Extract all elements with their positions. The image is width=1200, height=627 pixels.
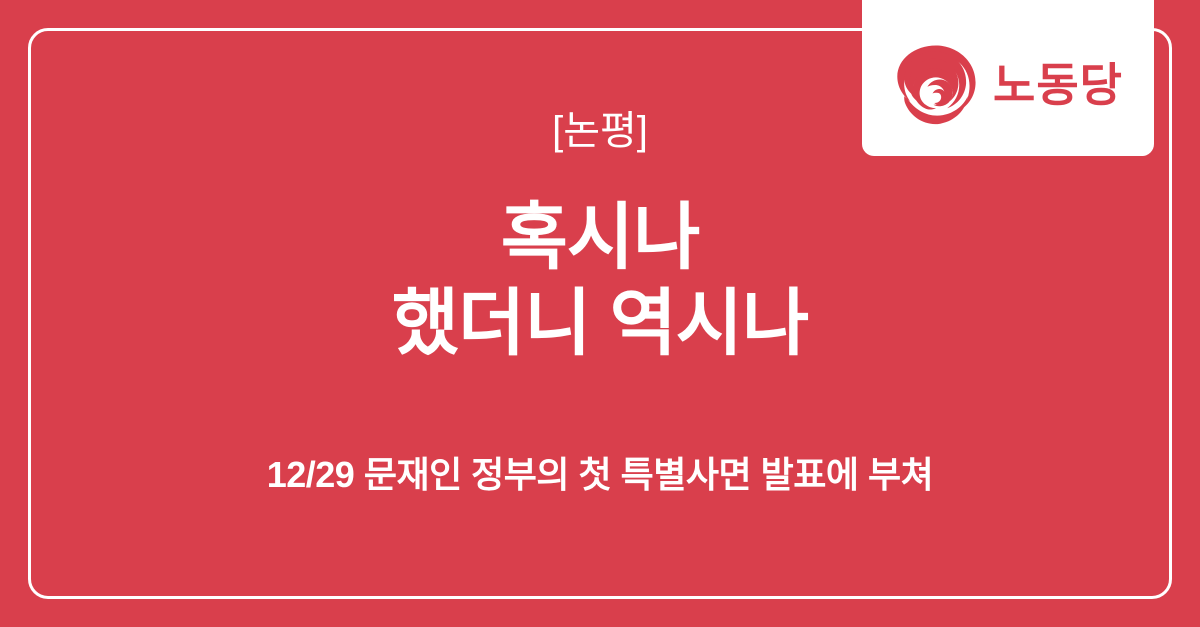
- logo-wordmark: 노동당: [993, 62, 1123, 108]
- headline: 혹시나 했더니 역시나: [392, 195, 808, 367]
- rose-icon: [893, 42, 979, 128]
- kicker-label: [논평]: [552, 109, 648, 153]
- headline-line-1: 혹시나: [392, 195, 808, 281]
- poster-canvas: 노동당 [논평] 혹시나 했더니 역시나 12/29 문재인 정부의 첫 특별사…: [0, 0, 1200, 627]
- logo-lockup: 노동당: [893, 42, 1123, 128]
- subtitle: 12/29 문재인 정부의 첫 특별사면 발표에 부쳐: [267, 453, 934, 496]
- headline-line-2: 했더니 역시나: [392, 281, 808, 367]
- party-logo-card: 노동당: [862, 0, 1154, 156]
